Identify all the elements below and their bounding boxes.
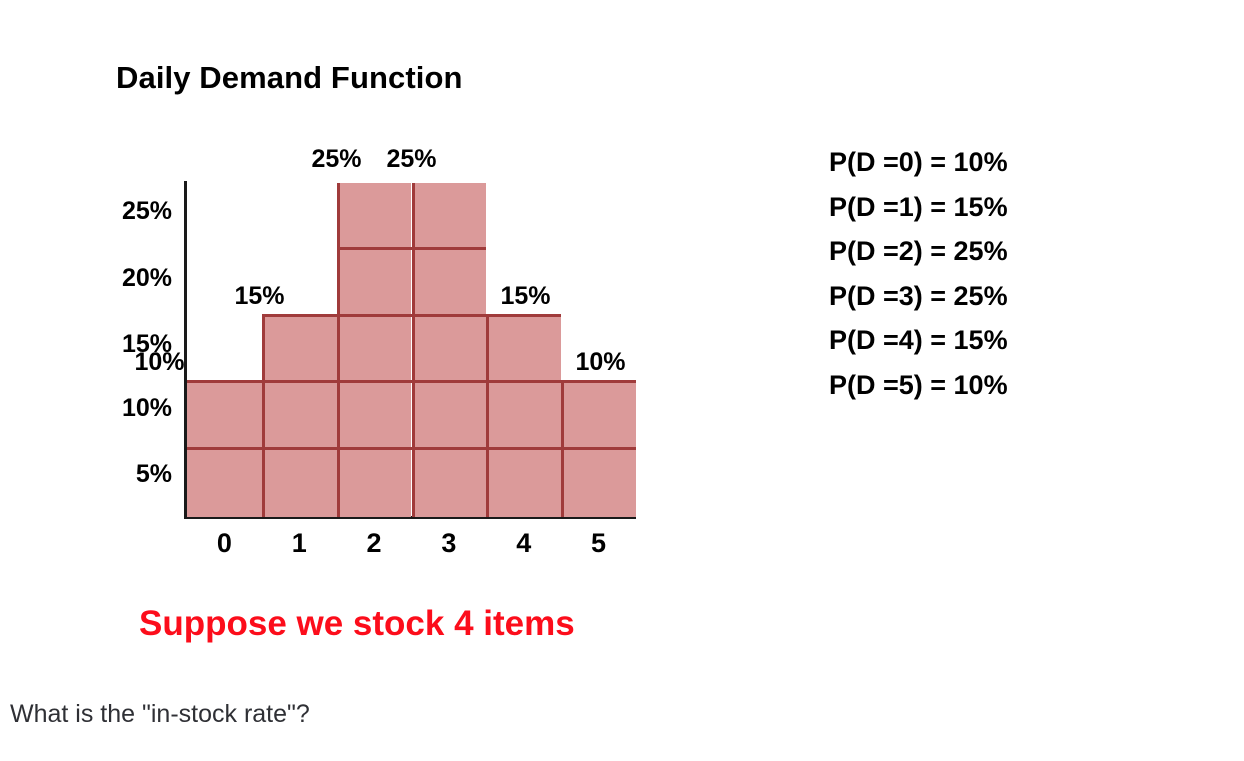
x-tick-label-5: 5 xyxy=(561,528,636,559)
bar-3[interactable] xyxy=(412,183,487,517)
bar-2[interactable] xyxy=(337,183,412,517)
gridline-15pct xyxy=(262,314,561,317)
probability-mass-list: P(D =0) = 10% P(D =1) = 15% P(D =2) = 25… xyxy=(829,140,1008,407)
pmf-line-1: P(D =1) = 15% xyxy=(829,185,1008,230)
bar-value-label-0: 10% xyxy=(122,348,197,377)
y-tick-label: 25% xyxy=(122,197,172,226)
gridline-20pct xyxy=(337,247,487,250)
x-tick-label-4: 4 xyxy=(486,528,561,559)
pmf-line-0: P(D =0) = 10% xyxy=(829,140,1008,185)
bar-4[interactable] xyxy=(486,317,561,517)
pmf-line-2: P(D =2) = 25% xyxy=(829,229,1008,274)
stock-assumption-note: Suppose we stock 4 items xyxy=(139,604,575,644)
y-tick-label: 10% xyxy=(122,394,172,423)
gridline-5pct xyxy=(187,447,636,450)
daily-demand-chart: 25% 20% 15% 10% 5% 10% 15% 25% 25% 15% 1… xyxy=(0,0,700,580)
y-tick-label: 20% xyxy=(122,264,172,293)
x-tick-label-1: 1 xyxy=(262,528,337,559)
bar-value-label-3: 25% xyxy=(374,145,449,174)
y-axis-tick-labels: 25% 20% 15% 10% 5% xyxy=(0,0,172,580)
bar-value-label-5: 10% xyxy=(563,348,638,377)
bar-value-label-2: 25% xyxy=(299,145,374,174)
bar-1[interactable] xyxy=(262,317,337,517)
prompt-question: What is the "in-stock rate"? xyxy=(10,700,310,729)
pmf-line-4: P(D =4) = 15% xyxy=(829,318,1008,363)
x-tick-label-0: 0 xyxy=(187,528,262,559)
bar-5[interactable] xyxy=(561,383,636,517)
gridline-10pct xyxy=(187,380,636,383)
y-tick-label: 5% xyxy=(136,460,172,489)
bar-0[interactable] xyxy=(187,383,262,517)
x-tick-label-2: 2 xyxy=(337,528,412,559)
x-tick-label-3: 3 xyxy=(412,528,487,559)
pmf-line-5: P(D =5) = 10% xyxy=(829,363,1008,408)
bar-value-label-4: 15% xyxy=(488,282,563,311)
pmf-line-3: P(D =3) = 25% xyxy=(829,274,1008,319)
bar-value-label-1: 15% xyxy=(222,282,297,311)
